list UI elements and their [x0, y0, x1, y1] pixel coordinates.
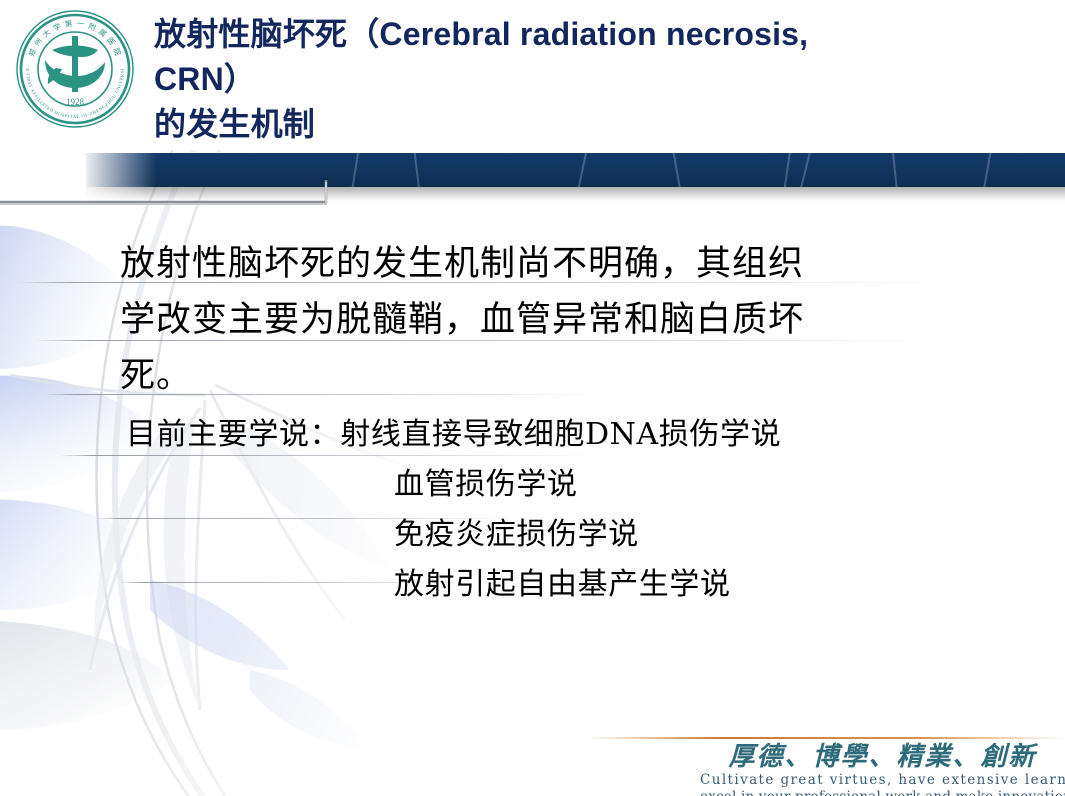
svg-text:1928: 1928: [66, 97, 85, 107]
theory-item-4: 放射引起自由基产生学说: [394, 567, 731, 602]
theories-line-3: 免疫炎症损伤学说: [126, 510, 1000, 560]
motto-chinese: 厚德、博學、精業、創新: [700, 742, 1065, 772]
header-accent-elbow-line: [0, 180, 360, 216]
hospital-logo: 郑 州 大 学 第 一 附 属 医 院 THE FIRST AFFILIATED…: [12, 6, 138, 132]
title-line-3: 的发生机制: [154, 102, 1014, 147]
theory-item-2: 血管损伤学说: [394, 467, 578, 502]
footer-divider-line: [586, 737, 1065, 739]
theories-label: 目前主要学说：: [126, 417, 340, 452]
theories-line-2: 血管损伤学说: [126, 460, 1000, 510]
body-paragraph-1: 放射性脑坏死的发生机制尚不明确，其组织 学改变主要为脱髓鞘，血管异常和脑白质坏 …: [120, 236, 1000, 404]
theory-item-1: 射线直接导致细胞DNA损伤学说: [340, 417, 781, 452]
slide-canvas: 郑 州 大 学 第 一 附 属 医 院 THE FIRST AFFILIATED…: [0, 0, 1065, 796]
theories-line-4: 放射引起自由基产生学说: [126, 560, 1000, 610]
title-line-1: 放射性脑坏死（Cerebral radiation necrosis,: [154, 12, 1014, 57]
theory-item-3: 免疫炎症损伤学说: [394, 517, 639, 552]
slide-body: 放射性脑坏死的发生机制尚不明确，其组织 学改变主要为脱髓鞘，血管异常和脑白质坏 …: [120, 236, 1000, 610]
footer-motto: 厚德、博學、精業、創新 Cultivate great virtues, hav…: [700, 742, 1065, 796]
theories-line-1: 目前主要学说：射线直接导致细胞DNA损伤学说: [126, 410, 1000, 460]
title-line-2: CRN）: [154, 57, 1014, 102]
paragraph1-line-1: 放射性脑坏死的发生机制尚不明确，其组织: [120, 236, 1000, 292]
paragraph1-line-2: 学改变主要为脱髓鞘，血管异常和脑白质坏: [120, 292, 1000, 348]
page-title: 放射性脑坏死（Cerebral radiation necrosis, CRN）…: [154, 12, 1014, 147]
paragraph1-line-3: 死。: [120, 348, 1000, 404]
motto-english-line-1: Cultivate great virtues, have extensive …: [700, 772, 1065, 789]
motto-english-line-2: excel in your professional work and make…: [700, 789, 1065, 796]
body-paragraph-2: 目前主要学说：射线直接导致细胞DNA损伤学说 血管损伤学说 免疫炎症损伤学说 放…: [120, 410, 1000, 610]
